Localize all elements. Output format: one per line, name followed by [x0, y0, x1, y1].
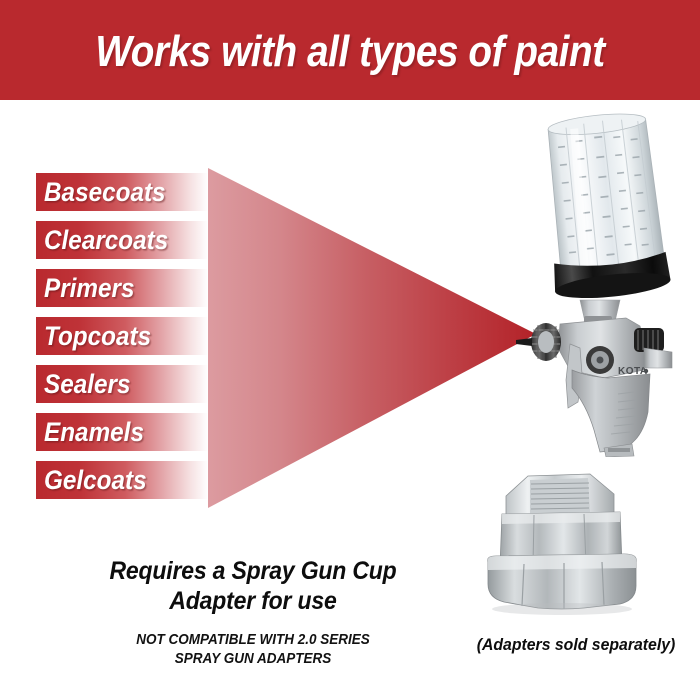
disclaimer-line-2: SPRAY GUN ADAPTERS	[78, 649, 429, 668]
paint-type-label: Topcoats	[44, 321, 151, 351]
page-title: Works with all types of paint	[42, 28, 658, 76]
paint-type-bar-primers: Primers	[36, 269, 208, 307]
paint-types-list: Basecoats Clearcoats Primers Topcoats Se…	[36, 173, 208, 509]
requires-line-2: Adapter for use	[74, 586, 433, 616]
paint-type-bar-sealers: Sealers	[36, 365, 208, 403]
infographic-canvas: Works with all types of paint Basecoats …	[0, 0, 700, 700]
cup-adapter-image	[472, 468, 652, 623]
paint-type-label: Clearcoats	[44, 225, 168, 255]
paint-type-bar-gelcoats: Gelcoats	[36, 461, 208, 499]
paint-type-label: Enamels	[44, 417, 144, 447]
spray-gun-image: KOTA	[508, 112, 700, 457]
compatibility-disclaimer: NOT COMPATIBLE WITH 2.0 SERIES SPRAY GUN…	[58, 630, 448, 668]
adapters-sold-separately-note: (Adapters sold separately)	[461, 634, 692, 656]
disclaimer-line-1: NOT COMPATIBLE WITH 2.0 SERIES	[78, 630, 429, 649]
paint-type-bar-clearcoats: Clearcoats	[36, 221, 208, 259]
paint-type-bar-enamels: Enamels	[36, 413, 208, 451]
paint-type-label: Primers	[44, 273, 135, 303]
spray-cone-graphic	[208, 164, 536, 512]
paint-type-label: Basecoats	[44, 177, 166, 207]
paint-type-bar-basecoats: Basecoats	[36, 173, 208, 211]
requires-line-1: Requires a Spray Gun Cup	[74, 556, 433, 586]
paint-type-label: Sealers	[44, 369, 130, 399]
requires-callout: Requires a Spray Gun Cup Adapter for use	[58, 556, 448, 616]
paint-type-label: Gelcoats	[44, 465, 147, 495]
paint-type-bar-topcoats: Topcoats	[36, 317, 208, 355]
